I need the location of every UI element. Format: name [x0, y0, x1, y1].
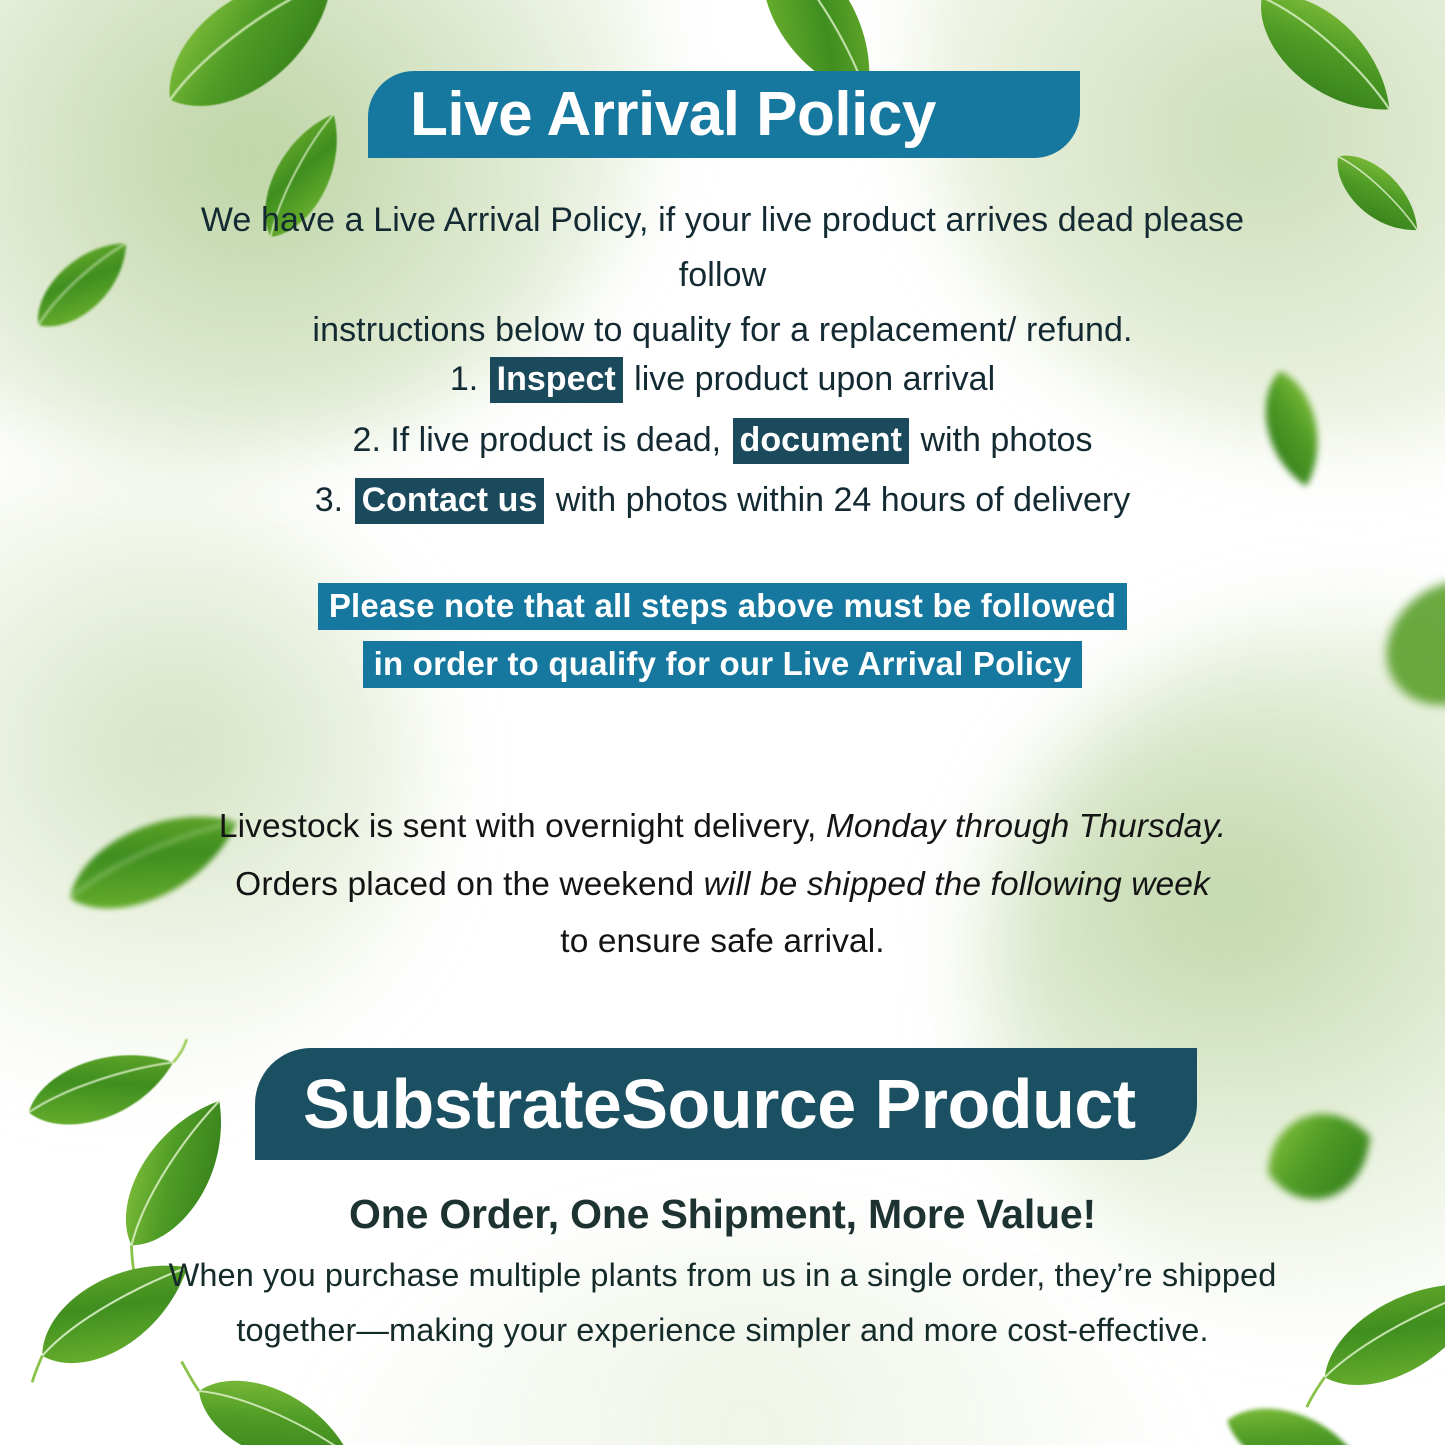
policy-note-row-1: Please note that all steps above must be…	[200, 583, 1245, 630]
shipping-line-2-italic: will be shipped the following week	[704, 866, 1210, 903]
live-arrival-policy-poster: Live Arrival Policy We have a Live Arriv…	[0, 0, 1445, 1445]
policy-step-2: 2. If live product is dead, document wit…	[200, 410, 1245, 471]
live-arrival-policy-banner-title: Live Arrival Policy	[410, 84, 936, 146]
step-3-number: 3.	[315, 481, 343, 519]
substratesource-product-banner: SubstrateSource Product	[255, 1048, 1197, 1160]
shipping-line-2-plain: Orders placed on the weekend	[235, 866, 703, 903]
policy-step-1: 1. Inspect live product upon arrival	[200, 349, 1245, 410]
policy-steps-list: 1. Inspect live product upon arrival 2. …	[200, 349, 1245, 531]
intro-paragraph: We have a Live Arrival Policy, if your l…	[160, 193, 1285, 358]
step-2-text-before: If live product is dead,	[390, 421, 721, 459]
step-1-text: live product upon arrival	[634, 360, 995, 398]
step-3-highlight-contact-us: Contact us	[355, 478, 545, 524]
policy-note-line-2: in order to qualify for our Live Arrival…	[363, 641, 1083, 688]
policy-note-block: Please note that all steps above must be…	[200, 583, 1245, 688]
step-1-highlight-inspect: Inspect	[490, 357, 623, 403]
intro-line-1: We have a Live Arrival Policy, if your l…	[201, 201, 1244, 294]
substratesource-product-banner-title: SubstrateSource Product	[303, 1069, 1136, 1139]
policy-step-3: 3. Contact us with photos within 24 hour…	[200, 470, 1245, 531]
value-line-1: When you purchase multiple plants from u…	[169, 1257, 1277, 1293]
step-2-text-after: with photos	[920, 421, 1092, 459]
shipping-line-1-plain: Livestock is sent with overnight deliver…	[219, 808, 826, 845]
live-arrival-policy-banner: Live Arrival Policy	[368, 71, 1080, 158]
value-proposition-paragraph: When you purchase multiple plants from u…	[165, 1248, 1280, 1357]
policy-note-line-1: Please note that all steps above must be…	[318, 583, 1127, 630]
step-2-highlight-document: document	[733, 418, 909, 464]
shipping-line-1-italic: Monday through Thursday.	[826, 808, 1226, 845]
step-1-number: 1.	[450, 360, 478, 398]
step-3-text: with photos within 24 hours of delivery	[556, 481, 1131, 519]
value-proposition-heading: One Order, One Shipment, More Value!	[165, 1191, 1280, 1238]
step-2-number: 2.	[353, 421, 381, 459]
intro-line-2: instructions below to quality for a repl…	[312, 311, 1132, 349]
shipping-line-3: to ensure safe arrival.	[560, 923, 884, 960]
policy-note-row-2: in order to qualify for our Live Arrival…	[200, 641, 1245, 688]
value-line-2: together—making your experience simpler …	[236, 1312, 1208, 1348]
shipping-schedule-paragraph: Livestock is sent with overnight deliver…	[185, 798, 1260, 971]
